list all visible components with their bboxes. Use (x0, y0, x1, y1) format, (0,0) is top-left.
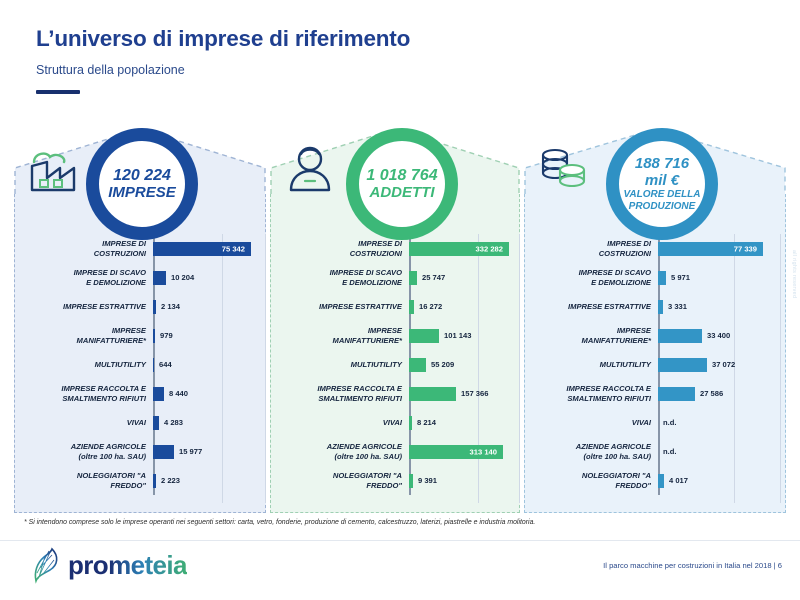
table-row: NOLEGGIATORI "A FREDDO" 2 223 (14, 466, 266, 495)
bar-value: 10 204 (166, 273, 194, 282)
side-copyright-note: all rights reserved (791, 250, 797, 298)
row-label: IMPRESE DI SCAVO E DEMOLIZIONE (524, 268, 658, 287)
row-label: IMPRESE MANIFATTURIERE* (14, 326, 153, 345)
kpi-columns-container: 120 224 IMPRESE IMPRESE DI COSTRUZIONI 7… (0, 128, 800, 513)
row-label: AZIENDE AGRICOLE (oltre 100 ha. SAU) (524, 442, 658, 461)
row-label: AZIENDE AGRICOLE (oltre 100 ha. SAU) (14, 442, 153, 461)
bar-area: 16 272 (409, 292, 520, 321)
row-label: IMPRESE DI SCAVO E DEMOLIZIONE (270, 268, 409, 287)
bar-value: 77 339 (734, 244, 757, 253)
table-row: IMPRESE RACCOLTA E SMALTIMENTO RIFIUTI 2… (524, 379, 786, 408)
table-row: IMPRESE RACCOLTA E SMALTIMENTO RIFIUTI 1… (270, 379, 520, 408)
table-row: VIVAI n.d. (524, 408, 786, 437)
bar (409, 271, 417, 285)
bar-area: 77 339 (658, 234, 786, 263)
row-label: VIVAI (524, 418, 658, 427)
row-label: MULTIUTILITY (270, 360, 409, 369)
row-label: NOLEGGIATORI "A FREDDO" (524, 471, 658, 490)
page-subtitle: Struttura della popolazione (36, 63, 410, 77)
bar-area: 25 747 (409, 263, 520, 292)
kpi-label: ADDETTI (370, 185, 435, 202)
row-label: AZIENDE AGRICOLE (oltre 100 ha. SAU) (270, 442, 409, 461)
table-row: IMPRESE MANIFATTURIERE* 33 400 (524, 321, 786, 350)
kpi-unit-label: mil € (645, 173, 679, 190)
bar-value: 313 140 (470, 447, 497, 456)
bar (658, 387, 695, 401)
table-row: NOLEGGIATORI "A FREDDO" 4 017 (524, 466, 786, 495)
table-row: VIVAI 4 283 (14, 408, 266, 437)
coins-icon (536, 140, 592, 198)
page-title: L’universo di imprese di riferimento (36, 26, 410, 52)
bar-area: 4 017 (658, 466, 786, 495)
row-label: VIVAI (14, 418, 153, 427)
table-row: MULTIUTILITY 55 209 (270, 350, 520, 379)
table-row: IMPRESE DI SCAVO E DEMOLIZIONE 25 747 (270, 263, 520, 292)
kpi-circle-addetti: 1 018 764 ADDETTI (346, 128, 458, 240)
footnote: * Si intendono comprese solo le imprese … (24, 519, 535, 526)
kpi-label: IMPRESE (108, 185, 176, 202)
bar (658, 358, 707, 372)
row-label: IMPRESE ESTRATTIVE (270, 302, 409, 311)
bar-value: 101 143 (439, 331, 471, 340)
bar-value: 332 282 (476, 244, 503, 253)
table-row: AZIENDE AGRICOLE (oltre 100 ha. SAU) n.d… (524, 437, 786, 466)
bar-value: 15 977 (174, 447, 202, 456)
prometeia-leaf-icon (32, 546, 62, 584)
column-addetti: 1 018 764 ADDETTI IMPRESE DI COSTRUZIONI… (270, 128, 520, 513)
row-label: IMPRESE MANIFATTURIERE* (524, 326, 658, 345)
bar-area: 33 400 (658, 321, 786, 350)
bar-rows-addetti: IMPRESE DI COSTRUZIONI 332 282 IMPRESE D… (270, 234, 520, 503)
table-row: AZIENDE AGRICOLE (oltre 100 ha. SAU) 15 … (14, 437, 266, 466)
table-row: IMPRESE ESTRATTIVE 16 272 (270, 292, 520, 321)
bar-area: 3 331 (658, 292, 786, 321)
bar-value: 3 331 (663, 302, 687, 311)
bar (658, 329, 702, 343)
row-label: IMPRESE DI COSTRUZIONI (14, 239, 153, 258)
bar-area: 101 143 (409, 321, 520, 350)
table-row: AZIENDE AGRICOLE (oltre 100 ha. SAU) 313… (270, 437, 520, 466)
bar-area: 332 282 (409, 234, 520, 263)
title-underline-rule (36, 90, 80, 94)
bar (153, 387, 164, 401)
bar-area: n.d. (658, 408, 786, 437)
bar-value: 5 971 (666, 273, 690, 282)
row-label: MULTIUTILITY (524, 360, 658, 369)
bar (153, 271, 166, 285)
row-label: VIVAI (270, 418, 409, 427)
table-row: IMPRESE DI SCAVO E DEMOLIZIONE 10 204 (14, 263, 266, 292)
table-row: IMPRESE RACCOLTA E SMALTIMENTO RIFIUTI 8… (14, 379, 266, 408)
kpi-value: 120 224 (113, 167, 171, 185)
bar-value: 8 440 (164, 389, 188, 398)
table-row: IMPRESE MANIFATTURIERE* 979 (14, 321, 266, 350)
bar-area: n.d. (658, 437, 786, 466)
bar-area: 8 440 (153, 379, 266, 408)
bar-area: 8 214 (409, 408, 520, 437)
table-row: IMPRESE ESTRATTIVE 3 331 (524, 292, 786, 321)
bar: 77 339 (658, 242, 763, 256)
bar-area: 2 223 (153, 466, 266, 495)
table-row: NOLEGGIATORI "A FREDDO" 9 391 (270, 466, 520, 495)
bar-value: 27 586 (695, 389, 723, 398)
kpi-sublabel: VALORE DELLA PRODUZIONE (619, 189, 705, 211)
bar-area: 2 134 (153, 292, 266, 321)
kpi-circle-imprese: 120 224 IMPRESE (86, 128, 198, 240)
row-label: IMPRESE ESTRATTIVE (14, 302, 153, 311)
row-label: IMPRESE RACCOLTA E SMALTIMENTO RIFIUTI (14, 384, 153, 403)
bar-area: 27 586 (658, 379, 786, 408)
kpi-value: 1 018 764 (366, 167, 437, 185)
bar-value: 8 214 (412, 418, 436, 427)
table-row: IMPRESE MANIFATTURIERE* 101 143 (270, 321, 520, 350)
bar-area: 37 072 (658, 350, 786, 379)
bar-value: 2 223 (156, 476, 180, 485)
column-imprese: 120 224 IMPRESE IMPRESE DI COSTRUZIONI 7… (14, 128, 266, 513)
row-label: IMPRESE DI COSTRUZIONI (270, 239, 409, 258)
prometeia-logo: prometeia (32, 546, 187, 584)
bar-area: 157 366 (409, 379, 520, 408)
table-row: MULTIUTILITY 644 (14, 350, 266, 379)
bar-value: 16 272 (414, 302, 442, 311)
bar-value: 4 017 (664, 476, 688, 485)
bar-value-nd: n.d. (658, 418, 677, 427)
table-row: VIVAI 8 214 (270, 408, 520, 437)
bar-area: 10 204 (153, 263, 266, 292)
table-row: IMPRESE ESTRATTIVE 2 134 (14, 292, 266, 321)
bar-value: 75 342 (222, 244, 245, 253)
bar-area: 9 391 (409, 466, 520, 495)
bar: 332 282 (409, 242, 509, 256)
kpi-circle-valore: 188 716 mil € VALORE DELLA PRODUZIONE (606, 128, 718, 240)
bar-area: 644 (153, 350, 266, 379)
row-label: MULTIUTILITY (14, 360, 153, 369)
bar-value: 644 (154, 360, 172, 369)
bar-area: 979 (153, 321, 266, 350)
bar-value: 37 072 (707, 360, 735, 369)
bar-value-nd: n.d. (658, 447, 677, 456)
bar-area: 75 342 (153, 234, 266, 263)
bar-rows-imprese: IMPRESE DI COSTRUZIONI 75 342 IMPRESE DI… (14, 234, 266, 503)
bar-value: 157 366 (456, 389, 488, 398)
bar (153, 445, 174, 459)
bar (658, 271, 666, 285)
table-row: IMPRESE DI SCAVO E DEMOLIZIONE 5 971 (524, 263, 786, 292)
bar: 75 342 (153, 242, 251, 256)
row-label: IMPRESE RACCOLTA E SMALTIMENTO RIFIUTI (524, 384, 658, 403)
bar-value: 25 747 (417, 273, 445, 282)
bar-value: 9 391 (413, 476, 437, 485)
bar (409, 358, 426, 372)
bar-area: 15 977 (153, 437, 266, 466)
bar-value: 2 134 (156, 302, 180, 311)
bar-value: 33 400 (702, 331, 730, 340)
slide-header: L’universo di imprese di riferimento Str… (36, 26, 410, 94)
bar-rows-valore: IMPRESE DI COSTRUZIONI 77 339 IMPRESE DI… (524, 234, 786, 503)
kpi-value: 188 716 (635, 156, 689, 173)
bar-value: 4 283 (159, 418, 183, 427)
table-row: MULTIUTILITY 37 072 (524, 350, 786, 379)
row-label: IMPRESE ESTRATTIVE (524, 302, 658, 311)
bar (409, 387, 456, 401)
row-label: IMPRESE DI SCAVO E DEMOLIZIONE (14, 268, 153, 287)
person-icon (284, 142, 336, 198)
row-label: NOLEGGIATORI "A FREDDO" (270, 471, 409, 490)
row-label: IMPRESE RACCOLTA E SMALTIMENTO RIFIUTI (270, 384, 409, 403)
column-valore-produzione: 188 716 mil € VALORE DELLA PRODUZIONE IM… (524, 128, 786, 513)
footer-caption: Il parco macchine per costruzioni in Ita… (603, 561, 782, 570)
row-label: NOLEGGIATORI "A FREDDO" (14, 471, 153, 490)
bar-area: 4 283 (153, 408, 266, 437)
bar-area: 313 140 (409, 437, 520, 466)
prometeia-wordmark: prometeia (68, 550, 187, 581)
footer-divider (0, 540, 800, 541)
row-label: IMPRESE MANIFATTURIERE* (270, 326, 409, 345)
bar-area: 5 971 (658, 263, 786, 292)
bar-value: 979 (155, 331, 173, 340)
bar: 313 140 (409, 445, 503, 459)
bar (409, 329, 439, 343)
bar-value: 55 209 (426, 360, 454, 369)
factory-icon (22, 144, 84, 200)
row-label: IMPRESE DI COSTRUZIONI (524, 239, 658, 258)
bar-area: 55 209 (409, 350, 520, 379)
